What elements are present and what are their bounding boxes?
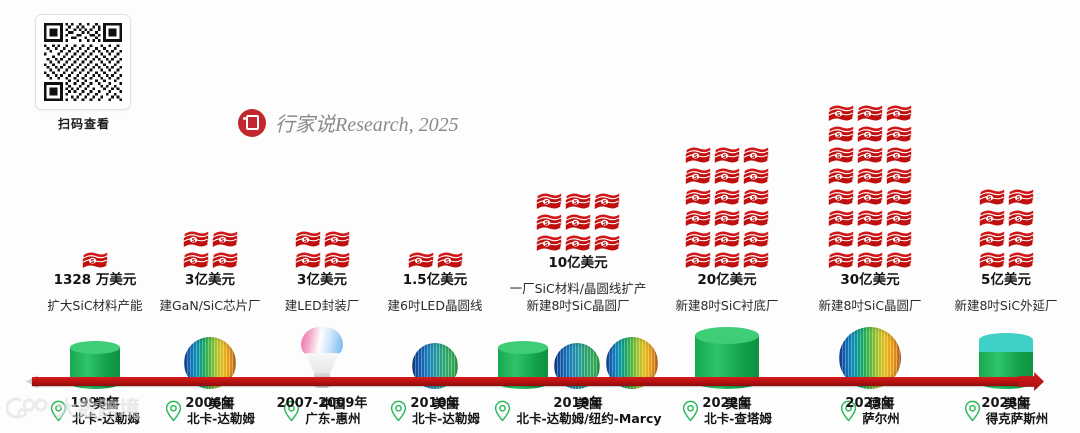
investment-amount: 20亿美元 (697, 272, 756, 289)
svg-text:S: S (752, 197, 756, 203)
svg-text:S: S (416, 260, 420, 266)
project-description-secondary: 新建8吋SiC晶圆厂 (526, 298, 629, 314)
investment-amount: 1.5亿美元 (403, 272, 467, 289)
svg-text:S: S (603, 242, 607, 248)
svg-text:S: S (1016, 197, 1020, 203)
svg-text:S: S (895, 260, 899, 266)
svg-text:S: S (1016, 239, 1020, 245)
location-pin-icon (964, 400, 981, 422)
location-place: 北卡-达勒姆 (412, 411, 480, 426)
svg-text:S: S (866, 260, 870, 266)
svg-text:S: S (723, 155, 727, 161)
investment-amount: 3亿美元 (297, 272, 347, 289)
svg-text:S: S (332, 239, 336, 245)
svg-text:S: S (987, 197, 991, 203)
svg-text:S: S (866, 239, 870, 245)
svg-text:S: S (545, 200, 549, 206)
svg-text:S: S (866, 155, 870, 161)
svg-text:S: S (895, 239, 899, 245)
money-bill-icon: S (212, 250, 238, 269)
year-label: 2019年 (553, 392, 602, 411)
money-bill-icon: S (1008, 187, 1034, 206)
project-description: 新建8吋SiC外延厂 (954, 298, 1057, 314)
money-bill-icon: S (536, 212, 562, 231)
money-bill-icon: S (828, 229, 854, 248)
svg-text:S: S (866, 113, 870, 119)
money-bill-icon: S (886, 208, 912, 227)
project-description: 建6吋LED晶圆线 (388, 298, 483, 314)
money-bill-icon: S (212, 229, 238, 248)
axis-bar (32, 377, 1020, 386)
watermark-text: 大数跨境 (56, 393, 140, 423)
money-bill-icon: S (1008, 229, 1034, 248)
project-description: 新建8吋SiC衬底厂 (675, 298, 778, 314)
svg-text:S: S (837, 197, 841, 203)
svg-text:S: S (837, 239, 841, 245)
money-bill-icon: S (324, 229, 350, 248)
infographic-canvas: 扫码查看 行家说Research, 2025 S1328 万美元扩大SiC材料产… (0, 0, 1080, 433)
svg-text:S: S (895, 197, 899, 203)
money-bill-icon: S (714, 145, 740, 164)
money-bill-icon: S (1008, 250, 1034, 269)
money-bill-icon: S (828, 208, 854, 227)
timeline-column: SSSSSSSS5亿美元新建8吋SiC外延厂美国得克萨斯州 (931, 0, 1080, 433)
project-description: 扩大SiC材料产能 (47, 298, 142, 314)
timeline-axis (32, 375, 1050, 388)
svg-text:S: S (866, 197, 870, 203)
svg-text:S: S (603, 200, 607, 206)
money-bill-icon: S (183, 229, 209, 248)
svg-text:S: S (895, 134, 899, 140)
svg-text:S: S (445, 260, 449, 266)
investment-amount: 1328 万美元 (54, 272, 137, 289)
svg-text:S: S (866, 176, 870, 182)
money-bill-icon: S (565, 191, 591, 210)
location-place: 北卡-查塔姆 (704, 411, 772, 426)
money-bill-icon: S (743, 250, 769, 269)
svg-text:S: S (545, 242, 549, 248)
money-bill-icon: S (743, 229, 769, 248)
money-bill-icon: S (828, 187, 854, 206)
money-bill-icon: S (979, 187, 1005, 206)
money-bill-icon: S (408, 250, 434, 269)
svg-text:S: S (752, 218, 756, 224)
svg-text:S: S (220, 239, 224, 245)
money-bill-icon: S (857, 166, 883, 185)
investment-amount: 5亿美元 (981, 272, 1031, 289)
money-bill-icon: S (979, 229, 1005, 248)
money-bill-icon: S (714, 229, 740, 248)
svg-text:S: S (723, 176, 727, 182)
money-bill-icon: S (979, 208, 1005, 227)
svg-text:S: S (723, 239, 727, 245)
svg-text:S: S (694, 218, 698, 224)
svg-text:S: S (694, 239, 698, 245)
money-bill-icon: S (743, 208, 769, 227)
money-bill-icon: S (685, 187, 711, 206)
svg-text:S: S (723, 197, 727, 203)
timeline-columns: S1328 万美元扩大SiC材料产能美国北卡-达勒姆SSSS3亿美元建GaN/S… (0, 0, 1080, 433)
money-stack: S (81, 250, 110, 269)
project-description: 一厂SiC材料/晶圆线扩产 (510, 281, 647, 297)
money-bill-icon: S (1008, 208, 1034, 227)
money-bill-icon: S (536, 191, 562, 210)
money-bill-icon: S (857, 124, 883, 143)
svg-text:S: S (303, 260, 307, 266)
investment-amount: 30亿美元 (840, 272, 899, 289)
svg-text:S: S (866, 218, 870, 224)
money-stack: SSSS (181, 229, 239, 269)
money-bill-icon: S (594, 212, 620, 231)
money-bill-icon: S (594, 233, 620, 252)
money-stack: SSSSSSSSS (535, 191, 622, 252)
svg-text:S: S (866, 134, 870, 140)
svg-text:S: S (574, 221, 578, 227)
svg-text:S: S (303, 239, 307, 245)
money-bill-icon: S (565, 212, 591, 231)
svg-text:S: S (987, 218, 991, 224)
money-bill-icon: S (857, 103, 883, 122)
svg-text:S: S (837, 176, 841, 182)
money-bill-icon: S (594, 191, 620, 210)
money-bill-icon: S (685, 145, 711, 164)
svg-text:S: S (694, 260, 698, 266)
investment-amount: 3亿美元 (185, 272, 235, 289)
svg-text:S: S (895, 113, 899, 119)
svg-text:S: S (987, 260, 991, 266)
money-bill-icon: S (828, 145, 854, 164)
money-bill-icon: S (828, 124, 854, 143)
money-stack: SSSS (293, 229, 351, 269)
svg-text:S: S (545, 221, 549, 227)
money-bill-icon: S (743, 145, 769, 164)
svg-text:S: S (191, 260, 195, 266)
svg-text:S: S (574, 242, 578, 248)
money-bill-icon: S (183, 250, 209, 269)
watermark: 大数跨境 (6, 393, 140, 423)
year-label: 2010年 (410, 392, 459, 411)
money-stack: SSSSSSSSSSSSSSSSSS (684, 145, 771, 269)
money-bill-icon: S (714, 250, 740, 269)
watermark-logo-icon (6, 396, 52, 420)
svg-text:S: S (1016, 218, 1020, 224)
svg-text:S: S (220, 260, 224, 266)
svg-text:S: S (837, 155, 841, 161)
money-stack: SSSSSSSSSSSSSSSSSSSSSSSS (827, 103, 914, 269)
svg-text:S: S (694, 155, 698, 161)
svg-text:S: S (752, 260, 756, 266)
money-bill-icon: S (743, 166, 769, 185)
money-bill-icon: S (857, 187, 883, 206)
money-bill-icon: S (685, 208, 711, 227)
year-label: 2006年 (185, 392, 234, 411)
money-stack: SS (406, 250, 464, 269)
location-pin-icon (494, 400, 511, 422)
money-bill-icon: S (714, 187, 740, 206)
timeline-column: SSSSSSSSSSSSSSSSSSSSSSSS30亿美元新建8吋SiC晶圆厂德… (785, 0, 955, 433)
money-bill-icon: S (857, 250, 883, 269)
money-bill-icon: S (82, 250, 108, 269)
money-stack: SSSSSSSS (977, 187, 1035, 269)
svg-text:S: S (837, 218, 841, 224)
money-bill-icon: S (437, 250, 463, 269)
svg-text:S: S (752, 155, 756, 161)
svg-text:S: S (332, 260, 336, 266)
money-bill-icon: S (886, 124, 912, 143)
money-bill-icon: S (714, 208, 740, 227)
svg-text:S: S (752, 239, 756, 245)
year-label: 2007-2009年 (277, 392, 368, 411)
svg-text:S: S (723, 218, 727, 224)
investment-amount: 10亿美元 (548, 255, 607, 272)
location-place: 广东-惠州 (305, 411, 360, 426)
money-bill-icon: S (857, 229, 883, 248)
money-bill-icon: S (886, 166, 912, 185)
year-label: 2022年 (702, 392, 751, 411)
money-bill-icon: S (886, 229, 912, 248)
location-place: 北卡-达勒姆/纽约-Marcy (516, 411, 661, 426)
money-bill-icon: S (324, 250, 350, 269)
money-bill-icon: S (857, 145, 883, 164)
money-bill-icon: S (857, 208, 883, 227)
location-pin-icon (390, 400, 407, 422)
svg-text:S: S (191, 239, 195, 245)
year-label: 2023年 (845, 392, 894, 411)
money-bill-icon: S (685, 250, 711, 269)
money-bill-icon: S (743, 187, 769, 206)
money-bill-icon: S (685, 229, 711, 248)
location-place: 萨尔州 (862, 411, 900, 426)
money-bill-icon: S (295, 250, 321, 269)
svg-text:S: S (987, 239, 991, 245)
svg-text:S: S (723, 260, 727, 266)
project-description: 新建8吋SiC晶圆厂 (818, 298, 921, 314)
money-bill-icon: S (828, 250, 854, 269)
money-bill-icon: S (295, 229, 321, 248)
money-bill-icon: S (886, 187, 912, 206)
project-description: 建GaN/SiC芯片厂 (159, 298, 260, 314)
svg-text:S: S (837, 113, 841, 119)
svg-text:S: S (1016, 260, 1020, 266)
money-bill-icon: S (685, 166, 711, 185)
money-bill-icon: S (979, 250, 1005, 269)
project-description: 建LED封装厂 (285, 298, 360, 314)
money-bill-icon: S (565, 233, 591, 252)
svg-text:S: S (837, 134, 841, 140)
svg-text:S: S (895, 218, 899, 224)
svg-text:S: S (895, 176, 899, 182)
money-bill-icon: S (828, 103, 854, 122)
svg-text:S: S (603, 221, 607, 227)
location-place: 得克萨斯州 (986, 411, 1049, 426)
svg-text:S: S (895, 155, 899, 161)
money-bill-icon: S (886, 103, 912, 122)
svg-text:S: S (752, 176, 756, 182)
location-pin-icon (165, 400, 182, 422)
money-bill-icon: S (536, 233, 562, 252)
svg-text:S: S (694, 197, 698, 203)
money-bill-icon: S (886, 145, 912, 164)
year-label: 2023年 (981, 392, 1030, 411)
svg-text:S: S (574, 200, 578, 206)
money-bill-icon: S (828, 166, 854, 185)
svg-text:S: S (91, 260, 95, 266)
money-bill-icon: S (714, 166, 740, 185)
money-bill-icon: S (886, 250, 912, 269)
svg-text:S: S (837, 260, 841, 266)
location-pin-icon (682, 400, 699, 422)
location-place: 北卡-达勒姆 (187, 411, 255, 426)
svg-text:S: S (694, 176, 698, 182)
